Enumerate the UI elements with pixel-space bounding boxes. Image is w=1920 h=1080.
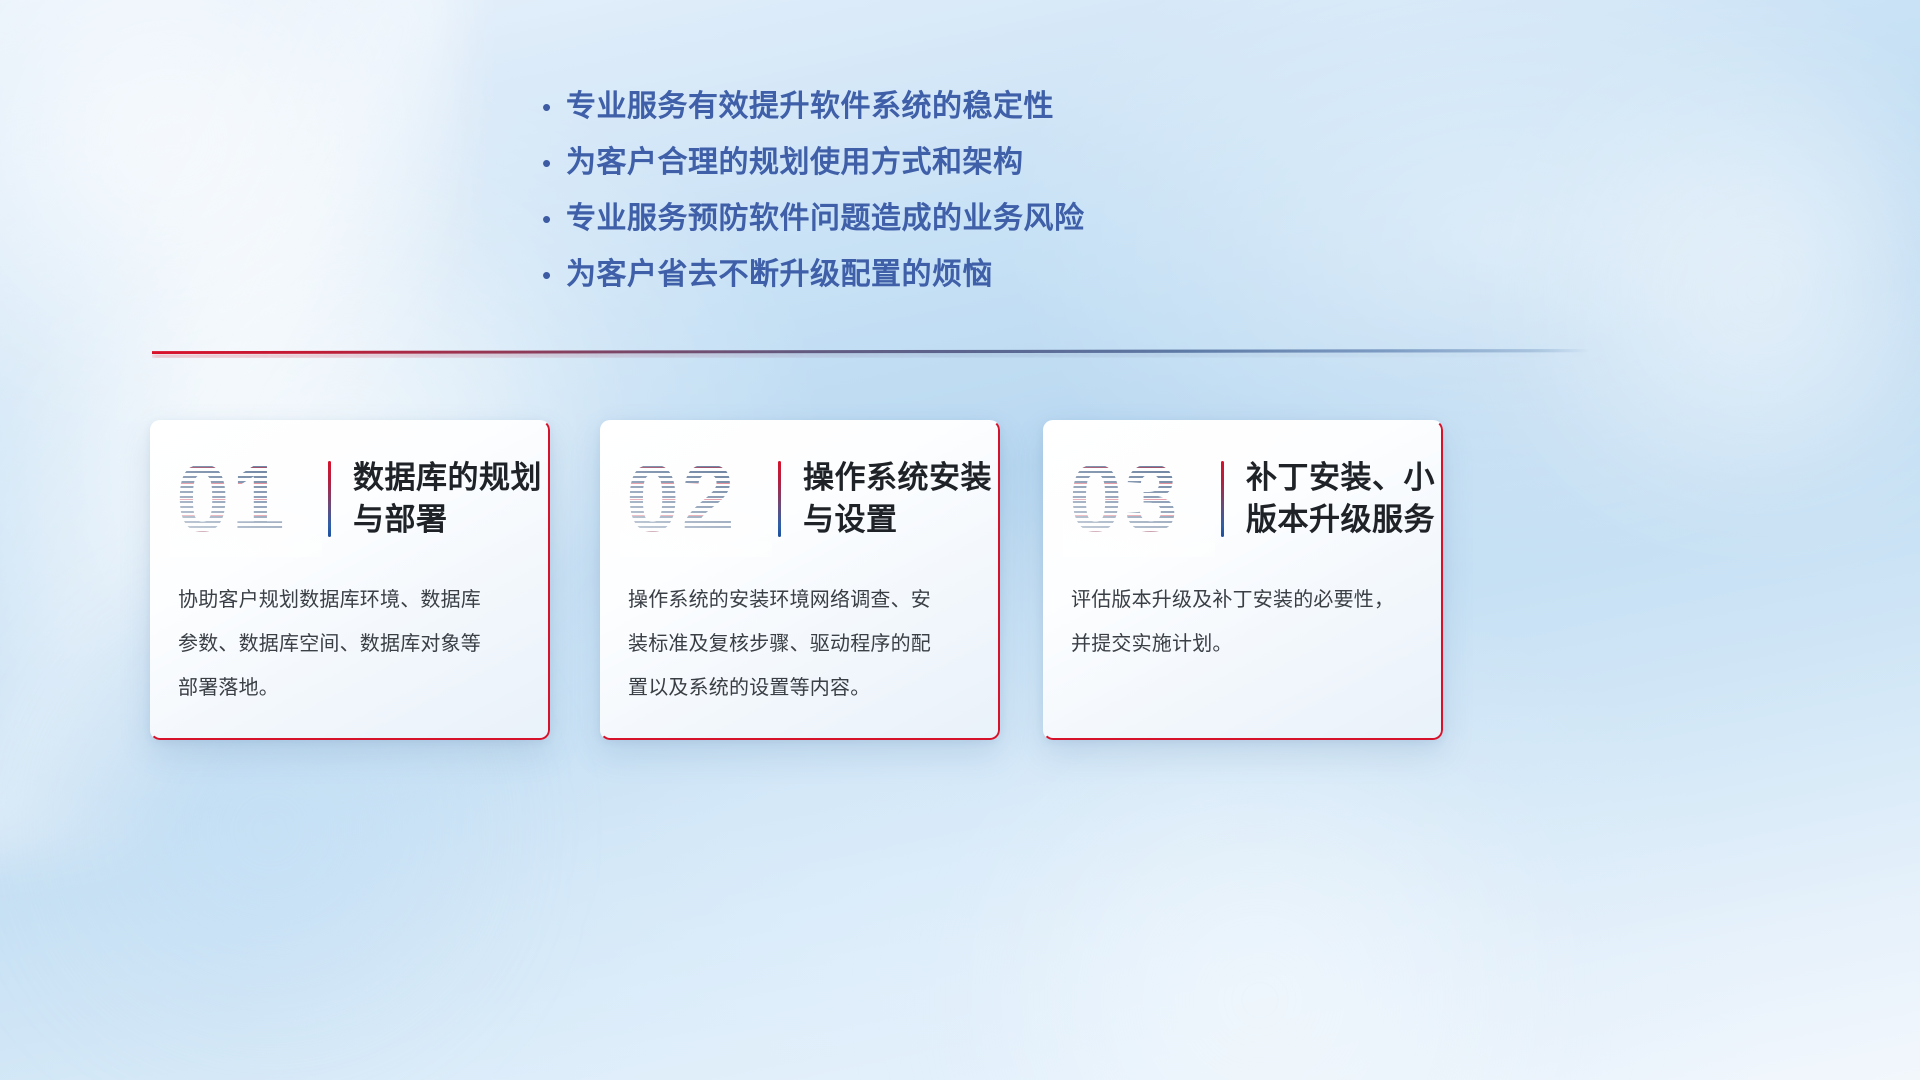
service-card-group: 01 01 数据库的规划 与部署 协助客户规划数据库环境、数据库 参数、数据库空… — [150, 420, 1770, 745]
card-accent-rule — [778, 461, 781, 537]
card-header: 01 01 数据库的规划 与部署 — [150, 420, 550, 578]
card-number-tint: 01 — [176, 451, 287, 547]
bullet-text: 为客户省去不断升级配置的烦恼 — [566, 256, 993, 294]
card-title: 操作系统安装 与设置 — [803, 457, 992, 541]
background-bloom-top-left — [0, 0, 480, 400]
list-item: • 为客户合理的规划使用方式和架构 — [536, 144, 1256, 182]
card-accent-rule — [1221, 461, 1224, 537]
bullet-dot-icon: • — [536, 200, 566, 238]
card-description: 协助客户规划数据库环境、数据库 参数、数据库空间、数据库对象等 部署落地。 — [150, 578, 550, 710]
divider-accent-bar — [152, 349, 1590, 354]
background-bloom-bottom-right — [880, 740, 1640, 1080]
list-item: • 专业服务预防软件问题造成的业务风险 — [536, 200, 1256, 238]
slide-canvas: • 专业服务有效提升软件系统的稳定性 • 为客户合理的规划使用方式和架构 • 专… — [0, 0, 1920, 1080]
bullet-dot-icon: • — [536, 256, 566, 294]
bullet-dot-icon: • — [536, 88, 566, 126]
card-accent-rule — [328, 461, 331, 537]
section-divider — [152, 349, 1590, 358]
card-number-tint: 03 — [1069, 451, 1180, 547]
benefits-bullet-list: • 专业服务有效提升软件系统的稳定性 • 为客户合理的规划使用方式和架构 • 专… — [536, 88, 1256, 312]
service-card[interactable]: 02 02 操作系统安装 与设置 操作系统的安装环境网络调查、安 装标准及复核步… — [600, 420, 1000, 740]
service-card[interactable]: 03 03 补丁安装、小 版本升级服务 评估版本升级及补丁安装的必要性， 并提交… — [1043, 420, 1443, 740]
card-number-graphic: 02 02 — [626, 447, 766, 551]
divider-glow — [152, 352, 1590, 358]
bullet-dot-icon: • — [536, 144, 566, 182]
card-description: 操作系统的安装环境网络调查、安 装标准及复核步骤、驱动程序的配 置以及系统的设置… — [600, 578, 1000, 710]
service-card[interactable]: 01 01 数据库的规划 与部署 协助客户规划数据库环境、数据库 参数、数据库空… — [150, 420, 550, 740]
card-number-tint: 02 — [626, 451, 737, 547]
card-number-graphic: 01 01 — [176, 447, 316, 551]
list-item: • 为客户省去不断升级配置的烦恼 — [536, 256, 1256, 294]
bullet-text: 专业服务有效提升软件系统的稳定性 — [566, 88, 1054, 126]
card-description: 评估版本升级及补丁安装的必要性， 并提交实施计划。 — [1043, 578, 1443, 666]
card-title: 补丁安装、小 版本升级服务 — [1246, 457, 1435, 541]
bullet-text: 为客户合理的规划使用方式和架构 — [566, 144, 1024, 182]
bullet-text: 专业服务预防软件问题造成的业务风险 — [566, 200, 1085, 238]
card-title: 数据库的规划 与部署 — [353, 457, 542, 541]
list-item: • 专业服务有效提升软件系统的稳定性 — [536, 88, 1256, 126]
card-header: 02 02 操作系统安装 与设置 — [600, 420, 1000, 578]
card-number-graphic: 03 03 — [1069, 447, 1209, 551]
card-header: 03 03 补丁安装、小 版本升级服务 — [1043, 420, 1443, 578]
